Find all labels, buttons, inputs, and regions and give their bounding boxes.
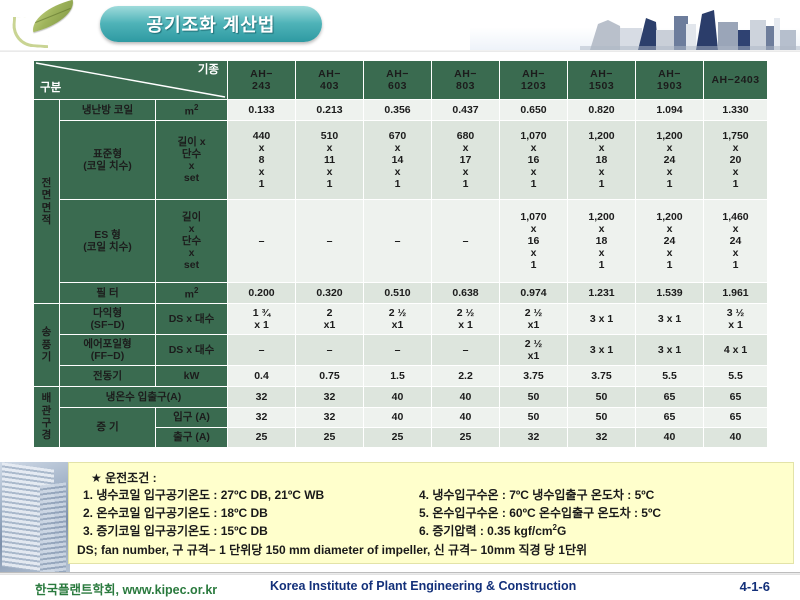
cell-8-3: 40: [432, 408, 500, 428]
note-ds-line: DS; fan number, 구 규격− 1 단위당 150 mm diame…: [77, 541, 587, 558]
cell-1-0: 440x8x1: [228, 121, 296, 200]
model-header-0: AH−243: [228, 61, 296, 100]
leaf-logo: [8, 2, 86, 48]
cell-0-3: 0.437: [432, 100, 500, 121]
cell-1-4: 1,070x16x1: [500, 121, 568, 200]
cell-5-2: –: [364, 335, 432, 366]
cell-0-6: 1.094: [636, 100, 704, 121]
cell-6-2: 1.5: [364, 366, 432, 387]
cell-7-0: 32: [228, 387, 296, 408]
note-line-3: 3. 증기코일 입구공기온도 : 15ºC DB: [83, 522, 268, 539]
model-header-6: AH−1903: [636, 61, 704, 100]
cell-3-0: 0.200: [228, 283, 296, 304]
cell-2-3: –: [432, 200, 500, 283]
cell-6-6: 5.5: [636, 366, 704, 387]
model-header-4: AH−1203: [500, 61, 568, 100]
table-row-standard-type: 표준형 (코일 치수) 길이 x 단수 x set 440x8x1 510x11…: [34, 121, 768, 200]
note-line-2: 2. 온수코일 입구공기온도 : 18ºC DB: [83, 504, 268, 521]
cell-2-2: –: [364, 200, 432, 283]
cell-9-6: 40: [636, 428, 704, 448]
footer-page-number: 4-1-6: [740, 579, 770, 594]
cell-1-1: 510x11x1: [296, 121, 364, 200]
spec-table-wrapper: 기종 구분 AH−243 AH−403 AH−603 AH−803 AH−120…: [33, 60, 767, 448]
cell-5-4: 2 ½x1: [500, 335, 568, 366]
cell-8-1: 32: [296, 408, 364, 428]
model-header-7: AH−2403: [704, 61, 768, 100]
corner-label-category: 구분: [40, 82, 61, 96]
note-star-line: ★ 운전조건 :: [91, 469, 157, 486]
row-label-multiblade-fan: 다익형 (SF−D): [60, 304, 156, 335]
cell-9-7: 40: [704, 428, 768, 448]
cell-7-5: 50: [568, 387, 636, 408]
header-divider: [0, 50, 800, 52]
cell-6-1: 0.75: [296, 366, 364, 387]
model-header-1: AH−403: [296, 61, 364, 100]
table-row-multiblade-fan: 송풍기 다익형 (SF−D) DS x 대수 1 ¾x 1 2x1 2 ½x1 …: [34, 304, 768, 335]
cell-3-2: 0.510: [364, 283, 432, 304]
cell-6-3: 2.2: [432, 366, 500, 387]
cell-4-6: 3 x 1: [636, 304, 704, 335]
cell-7-6: 65: [636, 387, 704, 408]
cell-3-5: 1.231: [568, 283, 636, 304]
cell-1-7: 1,750x20x1: [704, 121, 768, 200]
table-row-coil-area: 전면면적 냉난방 코일 m2 0.133 0.213 0.356 0.437 0…: [34, 100, 768, 121]
cell-8-4: 50: [500, 408, 568, 428]
cell-9-5: 32: [568, 428, 636, 448]
table-header-row: 기종 구분 AH−243 AH−403 AH−603 AH−803 AH−120…: [34, 61, 768, 100]
group-label-pipe-diameter: 배관구경: [34, 387, 60, 448]
cell-0-4: 0.650: [500, 100, 568, 121]
row-label-airfoil-fan: 에어포일형 (FF−D): [60, 335, 156, 366]
cell-2-1: –: [296, 200, 364, 283]
cell-4-0: 1 ¾x 1: [228, 304, 296, 335]
row-unit-6: kW: [156, 366, 228, 387]
cell-9-2: 25: [364, 428, 432, 448]
note-line-6: 6. 증기압력 : 0.35 kgf/cm2G: [419, 522, 566, 539]
cell-6-0: 0.4: [228, 366, 296, 387]
footer-korean-org: 한국플랜트학회, www.kipec.or.kr: [35, 579, 217, 598]
cell-5-6: 3 x 1: [636, 335, 704, 366]
cell-2-5: 1,200x18x1: [568, 200, 636, 283]
cell-0-7: 1.330: [704, 100, 768, 121]
cell-1-5: 1,200x18x1: [568, 121, 636, 200]
cell-5-1: –: [296, 335, 364, 366]
cell-3-1: 0.320: [296, 283, 364, 304]
cell-9-0: 25: [228, 428, 296, 448]
cell-4-4: 2 ½x1: [500, 304, 568, 335]
group-label-fan: 송풍기: [34, 304, 60, 387]
cell-5-5: 3 x 1: [568, 335, 636, 366]
cell-9-3: 25: [432, 428, 500, 448]
cell-7-2: 40: [364, 387, 432, 408]
row-unit-3: m2: [156, 283, 228, 304]
table-row-es-type: ES 형 (코일 치수) 길이 x 단수 x set – – – – 1,070…: [34, 200, 768, 283]
cell-3-3: 0.638: [432, 283, 500, 304]
cell-6-7: 5.5: [704, 366, 768, 387]
cell-7-3: 40: [432, 387, 500, 408]
cell-1-2: 670x14x1: [364, 121, 432, 200]
cell-5-3: –: [432, 335, 500, 366]
cell-1-6: 1,200x24x1: [636, 121, 704, 200]
note-line-5: 5. 온수입구수온 : 60ºC 온수입출구 온도차 : 5ºC: [419, 504, 661, 521]
cell-1-3: 680x17x1: [432, 121, 500, 200]
cell-5-0: –: [228, 335, 296, 366]
table-row-chilled-hot-water: 배관구경 냉온수 입출구(A) 32 32 40 40 50 50 65 65: [34, 387, 768, 408]
cell-3-4: 0.974: [500, 283, 568, 304]
cell-2-6: 1,200x24x1: [636, 200, 704, 283]
note-line-1: 1. 냉수코일 입구공기온도 : 27ºC DB, 21ºC WB: [83, 486, 324, 503]
cell-0-5: 0.820: [568, 100, 636, 121]
row-unit-1: 길이 x 단수 x set: [156, 121, 228, 200]
model-header-3: AH−803: [432, 61, 500, 100]
cell-2-7: 1,460x24x1: [704, 200, 768, 283]
cell-8-0: 32: [228, 408, 296, 428]
row-unit-2: 길이 x 단수 x set: [156, 200, 228, 283]
cell-0-2: 0.356: [364, 100, 432, 121]
page-footer: 한국플랜트학회, www.kipec.or.kr Korea Institute…: [0, 575, 800, 600]
building-photo: [0, 462, 70, 574]
footer-english-org: Korea Institute of Plant Engineering & C…: [270, 579, 576, 593]
corner-header-cell: 기종 구분: [34, 61, 228, 100]
corner-label-model: 기종: [198, 64, 219, 78]
table-row-steam-inlet: 증 기 입구 (A) 32 32 40 40 50 50 65 65: [34, 408, 768, 428]
row-unit-0: m2: [156, 100, 228, 121]
note-line-4: 4. 냉수입구수온 : 7ºC 냉수입출구 온도차 : 5ºC: [419, 486, 654, 503]
spec-table: 기종 구분 AH−243 AH−403 AH−603 AH−803 AH−120…: [33, 60, 768, 448]
table-row-motor: 전동기 kW 0.4 0.75 1.5 2.2 3.75 3.75 5.5 5.…: [34, 366, 768, 387]
row-unit-steam-outlet: 출구 (A): [156, 428, 228, 448]
cell-3-6: 1.539: [636, 283, 704, 304]
cell-6-5: 3.75: [568, 366, 636, 387]
row-unit-steam-inlet: 입구 (A): [156, 408, 228, 428]
page-title-badge: 공기조화 계산법: [100, 6, 322, 42]
cell-9-4: 32: [500, 428, 568, 448]
model-header-5: AH−1503: [568, 61, 636, 100]
page-header: 공기조화 계산법: [0, 0, 800, 52]
cell-2-4: 1,070x16x1: [500, 200, 568, 283]
table-row-airfoil-fan: 에어포일형 (FF−D) DS x 대수 – – – – 2 ½x1 3 x 1…: [34, 335, 768, 366]
table-row-filter: 필 터 m2 0.200 0.320 0.510 0.638 0.974 1.2…: [34, 283, 768, 304]
row-label-standard-type: 표준형 (코일 치수): [60, 121, 156, 200]
cell-8-7: 65: [704, 408, 768, 428]
row-label-steam: 증 기: [60, 408, 156, 448]
row-label-heating-cooling-coil: 냉난방 코일: [60, 100, 156, 121]
row-label-chilled-hot-water-inout: 냉온수 입출구(A): [60, 387, 228, 408]
row-label-filter: 필 터: [60, 283, 156, 304]
group-label-frontal-area: 전면면적: [34, 100, 60, 304]
row-label-motor: 전동기: [60, 366, 156, 387]
cell-6-4: 3.75: [500, 366, 568, 387]
cell-4-1: 2x1: [296, 304, 364, 335]
city-skyline-image: [470, 0, 800, 50]
row-unit-5: DS x 대수: [156, 335, 228, 366]
cell-7-7: 65: [704, 387, 768, 408]
cell-9-1: 25: [296, 428, 364, 448]
cell-4-7: 3 ½x 1: [704, 304, 768, 335]
operating-conditions-note: ★ 운전조건 : 1. 냉수코일 입구공기온도 : 27ºC DB, 21ºC …: [68, 462, 794, 564]
page-title: 공기조화 계산법: [147, 11, 276, 37]
cell-4-3: 2 ½x 1: [432, 304, 500, 335]
cell-4-2: 2 ½x1: [364, 304, 432, 335]
cell-4-5: 3 x 1: [568, 304, 636, 335]
cell-7-4: 50: [500, 387, 568, 408]
cell-0-1: 0.213: [296, 100, 364, 121]
cell-3-7: 1.961: [704, 283, 768, 304]
cell-7-1: 32: [296, 387, 364, 408]
cell-5-7: 4 x 1: [704, 335, 768, 366]
cell-2-0: –: [228, 200, 296, 283]
cell-8-6: 65: [636, 408, 704, 428]
cell-8-2: 40: [364, 408, 432, 428]
row-label-es-type: ES 형 (코일 치수): [60, 200, 156, 283]
row-unit-4: DS x 대수: [156, 304, 228, 335]
cell-0-0: 0.133: [228, 100, 296, 121]
model-header-2: AH−603: [364, 61, 432, 100]
cell-8-5: 50: [568, 408, 636, 428]
